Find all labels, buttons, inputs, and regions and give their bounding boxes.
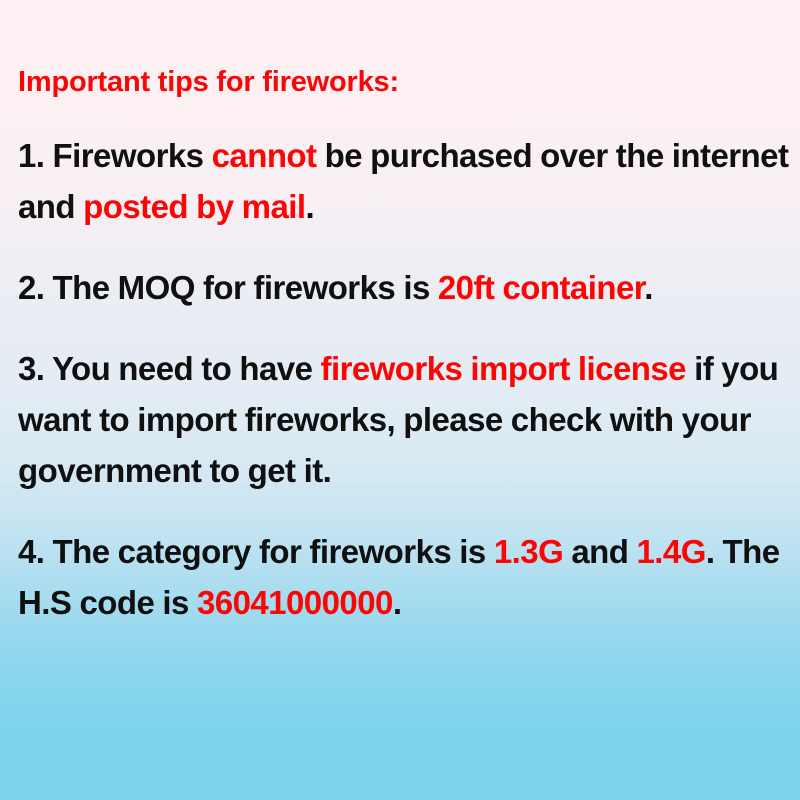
page-title: Important tips for fireworks: (18, 62, 790, 102)
tip-1-segment-0: 1. Fireworks (18, 137, 212, 174)
tip-4-segment-2: and (563, 533, 636, 570)
tip-4-highlight-class-13g: 1.3G (494, 533, 563, 570)
tip-2-segment-0: 2. The MOQ for fireworks is (18, 269, 438, 306)
tip-4-highlight-class-14g: 1.4G (636, 533, 705, 570)
tip-4-segment-6: . (393, 584, 402, 621)
tip-item-4: 4. The category for fireworks is 1.3G an… (18, 526, 790, 628)
tip-2-highlight-moq: 20ft container (438, 269, 644, 306)
tips-content: Important tips for fireworks: 1. Firewor… (18, 62, 790, 628)
tip-item-2: 2. The MOQ for fireworks is 20ft contain… (18, 262, 790, 313)
tip-1-highlight-posted-by-mail: posted by mail (83, 188, 305, 225)
tip-3-segment-0: 3. You need to have (18, 350, 321, 387)
fireworks-tips-poster: Important tips for fireworks: 1. Firewor… (0, 0, 800, 800)
tip-1-highlight-cannot: cannot (212, 137, 317, 174)
tip-2-segment-2: . (644, 269, 653, 306)
tip-1-segment-4: . (306, 188, 315, 225)
tip-item-1: 1. Fireworks cannot be purchased over th… (18, 130, 790, 232)
tip-4-highlight-hs-code: 36041000000 (197, 584, 393, 621)
tip-4-segment-0: 4. The category for fireworks is (18, 533, 494, 570)
tip-3-highlight-import-license: fireworks import license (321, 350, 686, 387)
tip-item-3: 3. You need to have fireworks import lic… (18, 343, 790, 496)
